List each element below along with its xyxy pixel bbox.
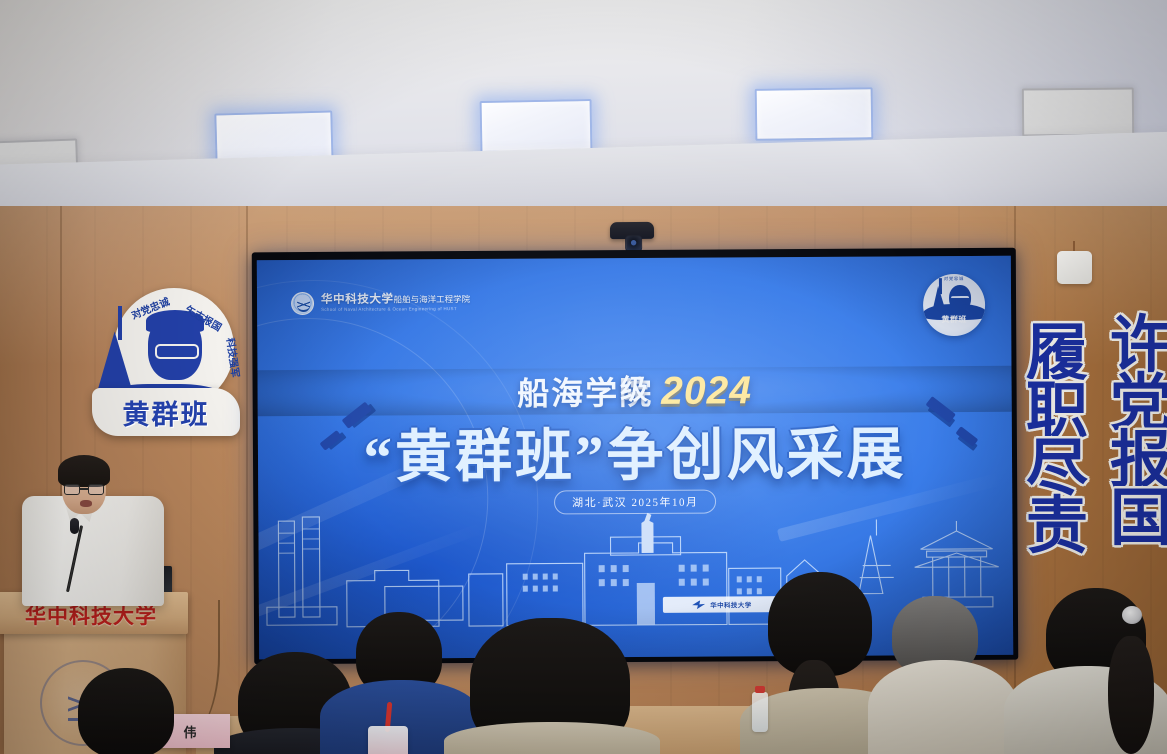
drink-cup [368, 726, 408, 754]
slogan-char: 责 [1026, 499, 1088, 557]
slogan-char: 尽 [1026, 441, 1088, 499]
badge-arc-text: 对党忠诚 [923, 276, 985, 282]
audience-head [78, 668, 174, 754]
slide-org-text: 华中科技大学船舶与海洋工程学院 School of Naval Architec… [321, 293, 470, 313]
name-card-label: 伟 [183, 722, 196, 741]
hair-scrunchie [1122, 606, 1142, 624]
slide-org-name-cn: 华中科技大学船舶与海洋工程学院 [321, 293, 470, 306]
lecture-hall-photo: 对党忠诚 矢志报国 科技强军 黄群班 履 职 尽 责 许 党 报 国 [0, 0, 1167, 754]
slide-org-logo: 华中科技大学船舶与海洋工程学院 School of Naval Architec… [291, 291, 470, 315]
glasses-left-lens [64, 484, 80, 495]
speaker-mouth [80, 500, 92, 507]
audience-shoulders [444, 722, 660, 754]
wall-slogan-column-back: 许 党 报 国 [1110, 318, 1167, 549]
ceiling-panel-light [755, 87, 874, 141]
hust-mark-icon [692, 600, 705, 609]
speaker-hair [58, 455, 110, 487]
badge-label: 黄群班 [923, 314, 985, 325]
water-bottle [752, 692, 768, 732]
microphone-icon [70, 518, 79, 534]
slide-line1-year: 2024 [661, 369, 752, 414]
slogan-char: 报 [1110, 433, 1167, 491]
presentation-screen-frame: 华中科技大学船舶与海洋工程学院 School of Naval Architec… [252, 248, 1019, 665]
slide-main-title: “黄群班”争创风采展 [258, 408, 1012, 495]
slogan-char: 职 [1026, 384, 1088, 442]
audience-shoulders [868, 660, 1018, 754]
ceiling-panel-light [1022, 88, 1134, 137]
org-name-sub: 船舶与海洋工程学院 [394, 294, 471, 304]
ship-mast-icon [118, 306, 122, 340]
wall-slogan-column-front: 履 职 尽 责 [1026, 326, 1088, 557]
slogan-char: 许 [1110, 318, 1167, 376]
huangqun-class-badge-icon: 对党忠诚 黄群班 [923, 274, 985, 336]
glasses-icon [64, 484, 104, 495]
placard-ribbon: 黄群班 [92, 388, 240, 436]
presentation-screen[interactable]: 华中科技大学船舶与海洋工程学院 School of Naval Architec… [257, 256, 1013, 660]
ceiling [0, 0, 1167, 232]
glasses-right-lens [88, 484, 104, 495]
wall-speaker-icon [1057, 251, 1092, 284]
hust-seal-icon [291, 292, 314, 315]
slogan-char: 国 [1110, 491, 1167, 549]
campus-sign-label: 华中科技大学 [710, 599, 751, 609]
portrait-face [148, 314, 202, 380]
ceiling-panel-light [480, 99, 593, 153]
placard-name: 黄群班 [123, 393, 210, 432]
org-name-main: 华中科技大学 [321, 294, 394, 306]
slide-line1-prefix: 船海学院 [517, 368, 653, 415]
slogan-char: 履 [1026, 326, 1088, 384]
audience-ponytail [1108, 636, 1154, 754]
glasses-bridge [80, 488, 88, 490]
campus-building-sign: 华中科技大学 [663, 596, 781, 613]
conference-camera-icon [610, 222, 654, 239]
slide-org-name-en: School of Naval Architecture & Ocean Eng… [321, 307, 470, 313]
slogan-char: 党 [1110, 376, 1167, 434]
huangqun-class-placard: 对党忠诚 矢志报国 科技强军 黄群班 [92, 288, 240, 440]
